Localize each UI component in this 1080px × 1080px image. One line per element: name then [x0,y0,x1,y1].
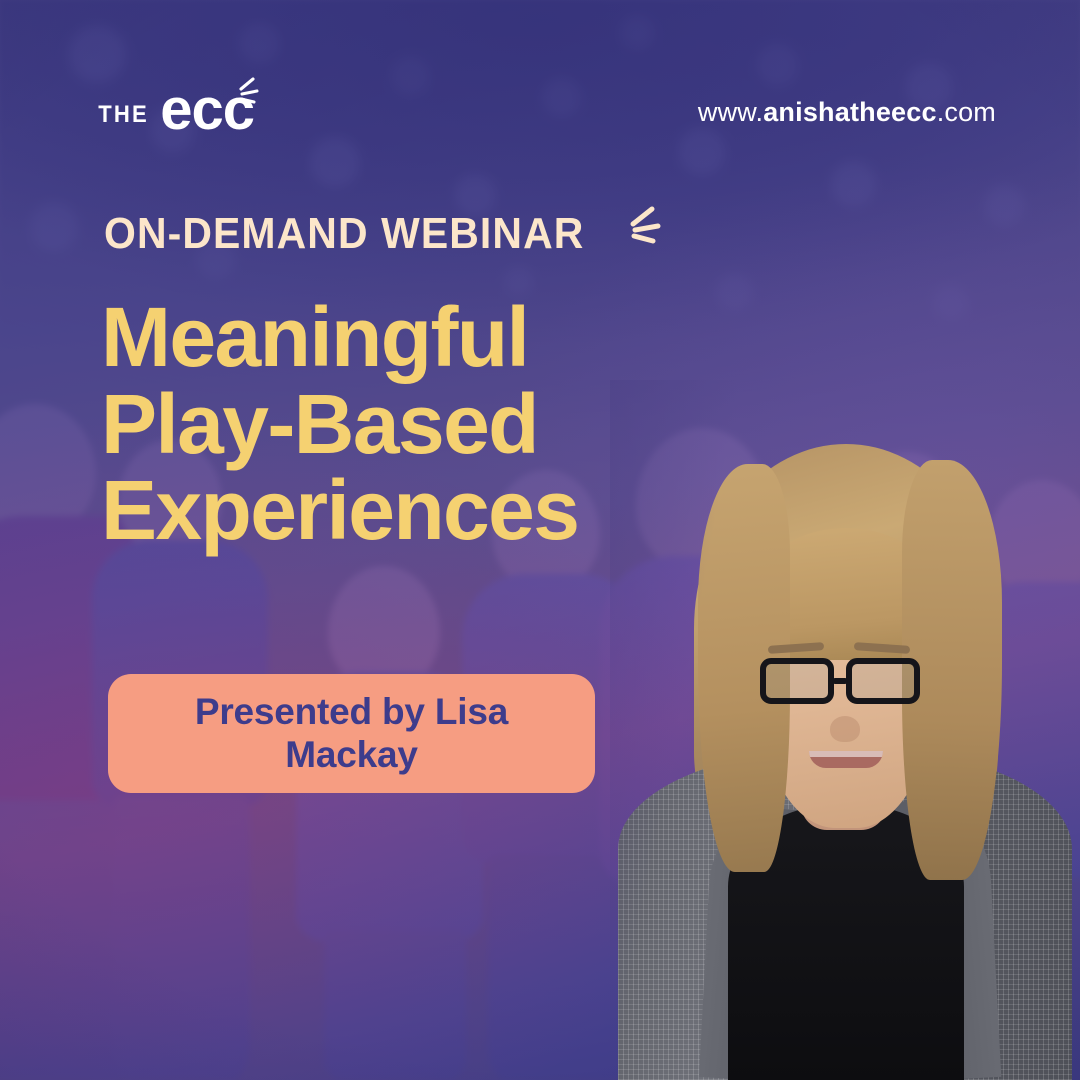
sparkle-burst-icon [619,200,665,246]
headline-line-3: Experiences [101,465,578,556]
website-url[interactable]: www.anishatheecc.com [698,97,996,128]
glasses-bridge-icon [832,678,848,684]
ecc-logo[interactable]: THE ecc [96,86,254,134]
presenter-photo [610,380,1080,1080]
glasses-lens-right-icon [846,658,920,704]
url-prefix: www. [698,97,763,127]
url-suffix: .com [937,97,996,127]
sparkle-icon [227,74,261,104]
presenter-badge-line-2: Mackay [285,734,418,775]
glasses-lens-left-icon [760,658,834,704]
presenter-badge[interactable]: Presented by Lisa Mackay [108,674,595,793]
presenter-badge-line-1: Presented by Lisa [195,691,508,732]
page-title: Meaningful Play-Based Experiences [101,292,578,552]
eyebrow-row: ON-DEMAND WEBINAR [104,212,665,256]
presenter-badge-label: Presented by Lisa Mackay [169,691,534,777]
portrait-nose [830,716,860,742]
eyebrow-label: ON-DEMAND WEBINAR [104,212,584,256]
headline-line-1: Meaningful [101,292,578,383]
portrait-mouth [809,751,883,768]
headline-line-2: Play-Based [101,379,578,470]
logo-the-text: THE [98,103,149,127]
url-domain: anishatheecc [763,97,936,127]
webinar-promo-poster: THE ecc www.anishatheecc.com ON-DEMAND W… [0,0,1080,1080]
